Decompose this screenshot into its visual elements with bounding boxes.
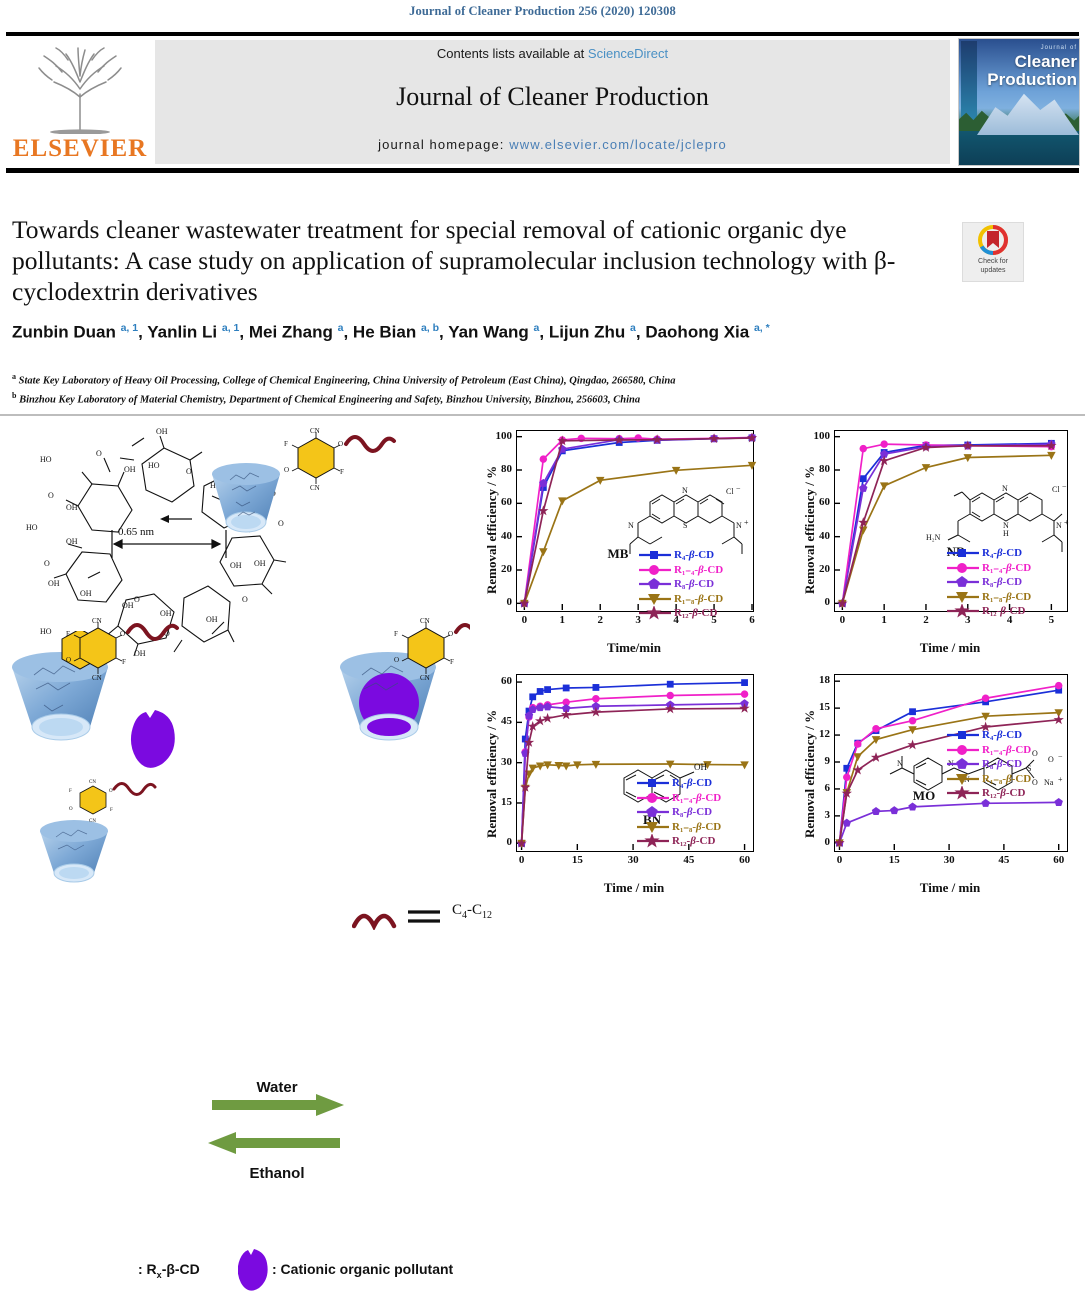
legend-item[interactable]: R₈-β-CD [946,575,1031,590]
x-tick-label: 60 [729,854,761,866]
x-tick-label: 45 [988,854,1020,866]
key-host-aromatic: CNCN FF OO [62,779,192,827]
author-marks: a, b [421,322,439,334]
svg-text:F: F [66,630,70,638]
cover-title-line1: Cleaner [1015,52,1077,71]
contents-prefix: Contents lists available at [437,46,588,61]
legend-label: R₈-β-CD [982,576,1022,588]
x-tick-label: 5 [1035,614,1067,626]
molecule-label: MO [894,788,954,804]
legend-label: R₈-β-CD [982,758,1022,770]
legend-label: R₄-β-CD [672,777,712,789]
x-tick-label: 2 [584,614,616,626]
svg-text:CN: CN [89,819,96,824]
x-tick-label: 0 [506,854,538,866]
svg-text:N: N [628,521,634,530]
svg-text:CN: CN [89,780,96,785]
svg-text:Na: Na [1044,778,1054,787]
svg-text:H: H [1003,529,1009,538]
crossmark-label: Check for updates [963,257,1023,275]
legend-item[interactable]: R₄-β-CD [638,548,723,563]
svg-text:F: F [122,658,126,666]
y-tick-label: 100 [482,430,512,442]
svg-text:O: O [242,595,248,604]
legend-label: R₄-β-CD [982,729,1022,741]
cavity-size-label: 0.65 nm [118,526,154,538]
svg-text:N: N [1002,484,1008,493]
author-separator: , [239,323,248,342]
elsevier-wordmark: ELSEVIER [10,135,150,163]
affiliation: b Binzhou Key Laboratory of Material Che… [12,389,1062,408]
svg-text:O: O [1032,749,1038,758]
svg-text:HO: HO [148,461,160,470]
article-page: Journal of Cleaner Production 256 (2020)… [0,0,1085,904]
svg-text:O: O [186,467,192,476]
svg-text:CN: CN [310,484,320,492]
legend-label: R₁₋₄-β-CD [672,791,721,804]
x-tick-label: 45 [673,854,705,866]
y-tick-label: 0 [482,596,512,608]
legend-label: R₁₋₄-β-CD [674,563,723,576]
svg-text:CN: CN [92,674,102,682]
author-separator: , [343,323,352,342]
legend-item[interactable]: R₁₂-β-CD [946,604,1031,619]
ethanol-label: Ethanol [218,1165,336,1182]
svg-text:F: F [284,440,288,448]
legend-item[interactable]: R₈-β-CD [638,577,723,592]
legend-label: R₄-β-CD [674,549,714,561]
homepage-prefix: journal homepage: [378,137,509,152]
x-tick-label: 0 [823,854,855,866]
elsevier-logo: ELSEVIER [10,40,150,166]
legend-item[interactable]: R₄-β-CD [946,728,1031,743]
legend: R₄-β-CDR₁₋₄-β-CDR₈-β-CDR₁₋₈-β-CDR₁₂-β-CD [636,776,721,849]
svg-text:F: F [450,658,454,666]
svg-text:CN: CN [310,428,320,435]
x-tick-label: 1 [546,614,578,626]
svg-text:−: − [1058,752,1063,761]
svg-text:OH: OH [230,561,242,570]
chain-c2: C [472,902,482,918]
x-tick-label: 0 [826,614,858,626]
svg-text:O: O [134,595,140,604]
y-axis-label: Removal efficiency / % [802,466,818,594]
svg-text:F: F [340,468,344,476]
header-rule-bottom [6,168,1079,173]
legend: R₄-β-CDR₁₋₄-β-CDR₈-β-CDR₁₋₈-β-CDR₁₂-β-CD [946,728,1031,801]
author-name[interactable]: He Bian [353,323,421,342]
author-name[interactable]: Yanlin Li [147,323,222,342]
svg-text:N: N [1056,521,1062,530]
x-axis-label: Time/min [516,640,752,656]
svg-text:Cl: Cl [1052,485,1060,494]
svg-text:O: O [69,807,73,812]
crossmark-line1: Check for [978,258,1008,265]
svg-text:S: S [683,521,687,530]
chain-equivalence-symbol [352,902,448,930]
svg-text:+: + [744,518,749,527]
legend-item[interactable]: R₈-β-CD [946,757,1031,772]
svg-text:OH: OH [694,762,707,772]
cover-title: Cleaner Production [979,53,1077,89]
svg-text:+: + [1058,775,1063,784]
chain-c1: C [452,902,462,918]
host-aromatic-group-large: CNCN FF OO [258,428,398,498]
y-axis-label: Removal efficiency / % [484,466,500,594]
legend-item[interactable]: R₁₋₈-β-CD [946,590,1031,605]
author-separator: , [138,323,147,342]
svg-text:O: O [96,449,102,458]
guest-pollutant-left [130,708,180,770]
svg-text:O: O [66,656,71,664]
svg-text:H₂N: H₂N [926,533,941,542]
svg-text:O: O [394,656,399,664]
crossmark-badge[interactable]: Check for updates [962,222,1024,282]
homepage-url[interactable]: www.elsevier.com/locate/jclepro [509,137,727,152]
chain-sub2: 12 [482,910,492,921]
cover-mountains [977,87,1079,135]
author-list: Zunbin Duan a, 1, Yanlin Li a, 1, Mei Zh… [12,316,972,345]
legend-label: R₈-β-CD [674,578,714,590]
legend-label: R₄-β-CD [982,547,1022,559]
affiliation: a State Key Laboratory of Heavy Oil Proc… [12,370,1062,389]
y-tick-label: 0 [482,836,512,848]
x-axis-label: Time / min [516,880,752,896]
y-axis-label: Removal efficiency / % [484,710,500,838]
svg-text:O: O [1032,778,1038,787]
svg-text:O: O [109,789,113,794]
svg-text:OH: OH [254,559,266,568]
svg-text:O: O [338,440,343,448]
legend-label: R₁₋₈-β-CD [982,772,1031,785]
y-tick-label: 100 [800,430,830,442]
x-tick-label: 15 [878,854,910,866]
key-host-label: : Rx-β-CD [138,1261,200,1280]
svg-text:F: F [110,808,113,813]
journal-homepage-line: journal homepage: www.elsevier.com/locat… [155,137,950,152]
legend-item[interactable]: R₁₂-β-CD [638,606,723,621]
x-tick-label: 2 [910,614,942,626]
legend-item[interactable]: R₁₋₄-β-CD [946,561,1031,576]
svg-text:CN: CN [420,674,430,682]
author-name[interactable]: Mei Zhang [249,323,338,342]
x-tick-label: 30 [617,854,649,866]
legend-item[interactable]: R₈-β-CD [636,805,721,820]
legend: R₄-β-CDR₁₋₄-β-CDR₈-β-CDR₁₋₈-β-CDR₁₂-β-CD [946,546,1031,619]
svg-text:O: O [44,559,50,568]
crossmark-line2: updates [981,267,1006,274]
legend-label: R₁₋₈-β-CD [982,590,1031,603]
reverse-arrow-ethanol [208,1132,340,1162]
chain-length-label: C4-C12 [452,902,492,921]
water-label: Water [222,1079,332,1096]
x-axis-label: Time / min [834,640,1066,656]
author-name[interactable]: Zunbin Duan [12,323,121,342]
x-tick-label: 0 [508,614,540,626]
author-name[interactable]: Daohong Xia [645,323,754,342]
legend-item[interactable]: R₁₋₈-β-CD [638,592,723,607]
crossmark-icon [963,223,1023,257]
svg-text:OH: OH [122,601,134,610]
journal-reference: Journal of Cleaner Production 256 (2020)… [0,4,1085,19]
svg-text:HO: HO [26,523,38,532]
host-aromatic-group-left: CNCN FF OO [58,616,238,686]
x-tick-label: 60 [1043,854,1075,866]
legend-item[interactable]: R₁₂-β-CD [946,786,1031,801]
svg-text:−: − [736,484,741,493]
legend-label: R₈-β-CD [672,806,712,818]
sciencedirect-link[interactable]: ScienceDirect [588,46,668,61]
author-name[interactable]: Lijun Zhu [549,323,630,342]
left-arrow-icon [160,514,192,524]
svg-text:OH: OH [156,427,168,436]
header-rule-top [6,32,1079,36]
cover-eyebrow: Journal of [985,45,1077,51]
journal-title: Journal of Cleaner Production [155,82,950,112]
contents-line: Contents lists available at ScienceDirec… [155,46,950,61]
legend-label: R₁₂-β-CD [674,607,717,619]
svg-text:OH: OH [124,465,136,474]
svg-text:Cl: Cl [726,487,734,496]
chart-mb: 0204060801000123456NSCl−NN+MBRemoval eff… [470,418,770,666]
svg-text:CN: CN [92,617,102,625]
svg-text:O: O [284,466,289,474]
svg-text:HO: HO [40,455,52,464]
page-title: Towards cleaner wastewater treatment for… [12,214,942,307]
x-tick-label: 15 [561,854,593,866]
legend-item[interactable]: R₁₋₄-β-CD [636,791,721,806]
key-guest-label: : Cationic organic pollutant [272,1261,453,1277]
author-name[interactable]: Yan Wang [448,323,533,342]
svg-text:O: O [48,491,54,500]
legend-item[interactable]: R₄-β-CD [946,546,1031,561]
y-axis-label: Removal efficiency / % [802,710,818,838]
forward-arrow-water [212,1094,344,1124]
svg-text:O: O [448,630,453,638]
legend-item[interactable]: R₁₋₈-β-CD [636,820,721,835]
svg-text:CN: CN [420,617,430,625]
svg-text:F: F [394,630,398,638]
x-tick-label: 6 [736,614,768,626]
legend-label: R₁₋₄-β-CD [982,561,1031,574]
svg-text:−: − [1062,482,1067,491]
x-axis-label: Time / min [834,880,1066,896]
legend-label: R₁₋₈-β-CD [672,820,721,833]
author-marks: a, 1 [121,322,139,334]
svg-text:O: O [120,630,125,638]
key-guest-icon [238,1248,270,1292]
journal-cover-thumbnail: Journal of Cleaner Production [958,38,1080,166]
y-tick-label: 18 [800,674,830,686]
svg-text:N: N [897,759,903,768]
legend-item[interactable]: R₁₋₄-β-CD [638,563,723,578]
author-marks: a, 1 [222,322,240,334]
legend-item[interactable]: R₁₋₈-β-CD [946,772,1031,787]
y-tick-label: 60 [482,675,512,687]
author-separator: , [636,323,645,342]
legend-label: R₁₂-β-CD [672,835,715,847]
svg-text:N: N [736,521,742,530]
svg-text:OH: OH [66,537,78,546]
affiliation-text: State Key Laboratory of Heavy Oil Proces… [16,376,675,387]
legend-item[interactable]: R₁₂-β-CD [636,834,721,849]
affiliation-text: Binzhou Key Laboratory of Material Chemi… [16,394,640,405]
graphical-abstract: OHHO OOH HOO OHHO OO OHHO OOH OHO OHOH O… [0,416,1085,904]
legend-label: R₁₂-β-CD [982,605,1025,617]
legend-label: R₁₂-β-CD [982,787,1025,799]
author-separator: , [539,323,548,342]
svg-text:F: F [69,789,72,794]
svg-text:O: O [1048,755,1054,764]
x-tick-label: 1 [868,614,900,626]
author-marks: a, * [754,322,770,334]
y-tick-label: 0 [800,596,830,608]
svg-text:OH: OH [48,579,60,588]
svg-text:+: + [1064,518,1069,527]
x-tick-label: 30 [933,854,965,866]
author-separator: , [439,323,448,342]
legend-item[interactable]: R₄-β-CD [636,776,721,791]
legend-label: R₁₋₄-β-CD [982,743,1031,756]
cover-water [959,131,1079,165]
affiliation-list: a State Key Laboratory of Heavy Oil Proc… [12,370,1062,407]
legend-label: R₁₋₈-β-CD [674,592,723,605]
elsevier-tree-icon [32,42,128,134]
svg-text:OH: OH [66,503,78,512]
cover-title-line2: Production [987,70,1077,89]
legend: R₄-β-CDR₁₋₄-β-CDR₈-β-CDR₁₋₈-β-CDR₁₂-β-CD [638,548,723,621]
legend-item[interactable]: R₁₋₄-β-CD [946,743,1031,758]
svg-text:OH: OH [80,589,92,598]
chart-bn: 015304560015304560OHBNRemoval efficiency… [470,666,770,904]
chart-nr: 020406080100012345NNHH₂NCl−N+NRRemoval e… [788,418,1085,666]
svg-text:N: N [682,486,688,495]
chart-mo: 0369121518015304560NNNSOOO−Na+MORemoval … [788,666,1085,904]
